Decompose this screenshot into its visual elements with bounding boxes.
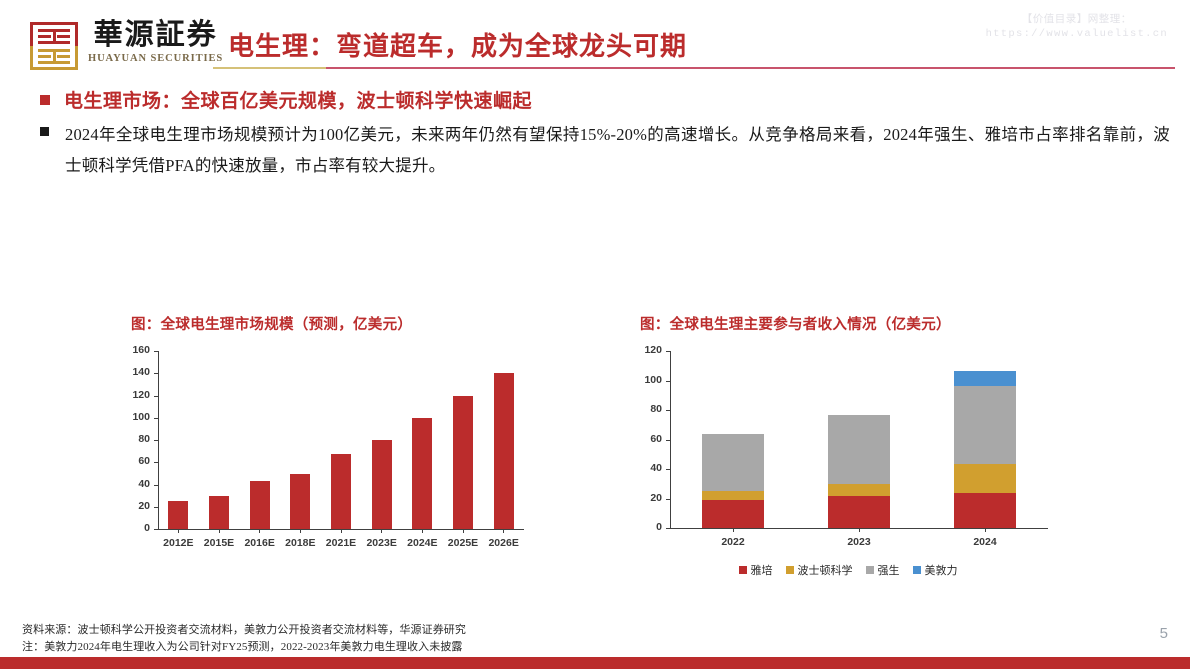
section-heading-label: 电生理市场：全球百亿美元规模，波士顿科学快速崛起 (64, 86, 532, 113)
bar-segment-强生 (702, 434, 764, 492)
bar (290, 474, 310, 529)
bar-segment-美敦力 (954, 371, 1016, 386)
legend-swatch (739, 566, 747, 574)
bar (331, 454, 351, 529)
x-tick-label: 2021E (321, 537, 362, 549)
bar (168, 501, 188, 529)
bar (250, 481, 270, 529)
bottom-accent-bar (0, 657, 1190, 669)
bar-segment-强生 (828, 415, 890, 484)
seal-icon (30, 22, 78, 70)
y-tick-label: 80 (130, 433, 150, 445)
x-tick-label: 2024 (922, 536, 1048, 548)
y-tick-label: 60 (638, 433, 662, 445)
chart-legend: 雅培波士顿科学强生美敦力 (638, 562, 1058, 578)
x-tick-label: 2026E (483, 537, 524, 549)
x-tick-label: 2015E (199, 537, 240, 549)
watermark-line-1: 【价值目录】网整理： (986, 12, 1168, 27)
y-tick-label: 40 (130, 478, 150, 490)
legend-label: 美敦力 (925, 562, 958, 578)
x-tick-label: 2016E (239, 537, 280, 549)
bar (209, 496, 229, 529)
bullet-square-dark-icon (40, 127, 49, 136)
x-tick-label: 2012E (158, 537, 199, 549)
bar (494, 373, 514, 529)
brand-name-en: HUAYUAN SECURITIES (88, 53, 223, 64)
y-tick-label: 80 (638, 403, 662, 415)
legend-swatch (913, 566, 921, 574)
bar-segment-波士顿科学 (954, 464, 1016, 493)
bar-segment-波士顿科学 (828, 484, 890, 496)
y-tick-label: 20 (638, 492, 662, 504)
y-tick-label: 40 (638, 462, 662, 474)
y-tick-label: 100 (130, 411, 150, 423)
y-tick-label: 20 (130, 500, 150, 512)
legend-item-强生: 强生 (866, 562, 900, 578)
x-tick-label: 2023 (796, 536, 922, 548)
chart-left-title: 图：全球电生理市场规模（预测，亿美元） (131, 313, 412, 334)
x-tick-label: 2022 (670, 536, 796, 548)
y-tick-label: 0 (638, 521, 662, 533)
y-tick-label: 0 (130, 522, 150, 534)
chart-market-size: 0204060801001201401602012E2015E2016E2018… (130, 345, 530, 555)
bar (412, 418, 432, 529)
page-title: 电生理：弯道超车，成为全球龙头可期 (228, 26, 687, 63)
bar (372, 440, 392, 529)
chart-right-title: 图：全球电生理主要参与者收入情况（亿美元） (640, 313, 951, 334)
section-heading: 电生理市场：全球百亿美元规模，波士顿科学快速崛起 (40, 86, 532, 113)
legend-item-雅培: 雅培 (739, 562, 773, 578)
y-tick-label: 100 (638, 374, 662, 386)
legend-label: 强生 (878, 562, 900, 578)
legend-item-美敦力: 美敦力 (913, 562, 958, 578)
footer-notes: 资料来源：波士顿科学公开投资者交流材料，美敦力公开投资者交流材料等，华源证券研究… (22, 622, 466, 655)
brand-name-cn: 華源証券 (94, 20, 218, 50)
chart-player-revenue: 020406080100120202220232024雅培波士顿科学强生美敦力 (638, 345, 1058, 560)
bar-segment-雅培 (702, 500, 764, 528)
bar-segment-波士顿科学 (702, 491, 764, 500)
y-tick-label: 60 (130, 455, 150, 467)
legend-label: 雅培 (751, 562, 773, 578)
watermark: 【价值目录】网整理： https://www.valuelist.cn (986, 12, 1168, 42)
bar-segment-强生 (954, 386, 1016, 463)
brand-text: 華源証券 HUAYUAN SECURITIES (88, 20, 223, 64)
body-bullet: 2024年全球电生理市场规模预计为100亿美元，未来两年仍然有望保持15%-20… (40, 120, 1170, 181)
y-tick-label: 120 (638, 344, 662, 356)
legend-label: 波士顿科学 (798, 562, 853, 578)
page-number: 5 (1160, 625, 1168, 642)
x-tick-label: 2023E (361, 537, 402, 549)
bar-segment-雅培 (954, 493, 1016, 528)
title-divider (213, 67, 1175, 69)
bar (453, 396, 473, 530)
legend-item-波士顿科学: 波士顿科学 (786, 562, 853, 578)
y-tick-label: 140 (130, 366, 150, 378)
body-paragraph: 2024年全球电生理市场规模预计为100亿美元，未来两年仍然有望保持15%-20… (65, 120, 1170, 181)
x-tick-label: 2025E (443, 537, 484, 549)
footer-source: 资料来源：波士顿科学公开投资者交流材料，美敦力公开投资者交流材料等，华源证券研究 (22, 622, 466, 639)
legend-swatch (866, 566, 874, 574)
watermark-line-2: https://www.valuelist.cn (986, 27, 1168, 42)
bar-segment-雅培 (828, 496, 890, 528)
y-tick-label: 160 (130, 344, 150, 356)
x-tick-label: 2024E (402, 537, 443, 549)
footer-note: 注：美敦力2024年电生理收入为公司针对FY25预测，2022-2023年美敦力… (22, 639, 466, 656)
brand-logo: 華源証券 HUAYUAN SECURITIES (30, 20, 223, 70)
slide: 【价值目录】网整理： https://www.valuelist.cn 華源証券… (0, 0, 1190, 669)
legend-swatch (786, 566, 794, 574)
y-tick-label: 120 (130, 389, 150, 401)
bullet-square-icon (40, 95, 50, 105)
x-tick-label: 2018E (280, 537, 321, 549)
